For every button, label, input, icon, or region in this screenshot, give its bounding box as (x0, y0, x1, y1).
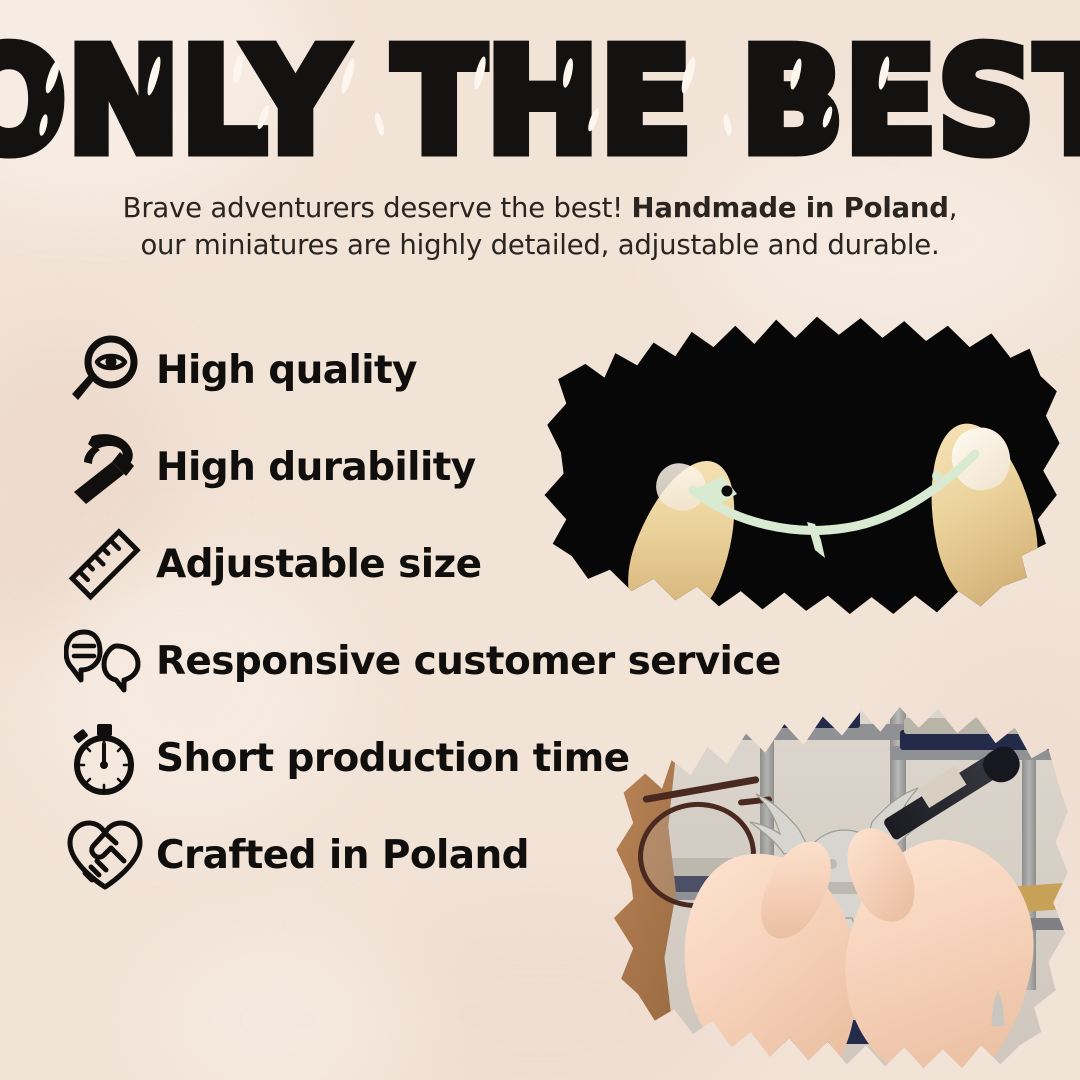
feature-item-high-durability: High durability (64, 419, 804, 516)
infographic-page: ONLY THE BEST Brave adventurers deserve … (0, 0, 1080, 1080)
feature-label-adjustable-size: Adjustable size (156, 542, 481, 587)
tray-parts-top-right (904, 718, 1064, 734)
hammer-icon (64, 429, 150, 507)
feature-list: High quality High durability (64, 322, 804, 904)
heart-handshake-icon (64, 817, 150, 895)
subtitle-line1-pre: Brave adventurers deserve the best! (123, 192, 632, 224)
subtitle-line-1: Brave adventurers deserve the best! Hand… (60, 190, 1020, 227)
feature-label-customer-service: Responsive customer service (156, 639, 781, 684)
ruler-icon (64, 526, 150, 604)
feature-item-production-time: Short production time (64, 710, 804, 807)
speech-bubbles-icon (64, 623, 150, 701)
feature-item-customer-service: Responsive customer service (64, 613, 804, 710)
feature-label-production-time: Short production time (156, 736, 630, 781)
feature-item-high-quality: High quality (64, 322, 804, 419)
subtitle-line1-bold: Handmade in Poland (632, 192, 949, 224)
feature-label-high-durability: High durability (156, 445, 476, 490)
feature-item-crafted-in-poland: Crafted in Poland (64, 807, 804, 904)
page-title: ONLY THE BEST (0, 38, 1080, 163)
magnifier-eye-icon (64, 332, 150, 410)
subtitle-line1-post: , (949, 192, 958, 224)
feature-label-high-quality: High quality (156, 348, 417, 393)
subtitle-line-2: our miniatures are highly detailed, adju… (60, 227, 1020, 264)
subtitle: Brave adventurers deserve the best! Hand… (60, 190, 1020, 264)
feature-label-crafted-in-poland: Crafted in Poland (156, 833, 529, 878)
feature-item-adjustable-size: Adjustable size (64, 516, 804, 613)
stopwatch-icon (64, 720, 150, 798)
page-title-text: ONLY THE BEST (0, 29, 1080, 173)
